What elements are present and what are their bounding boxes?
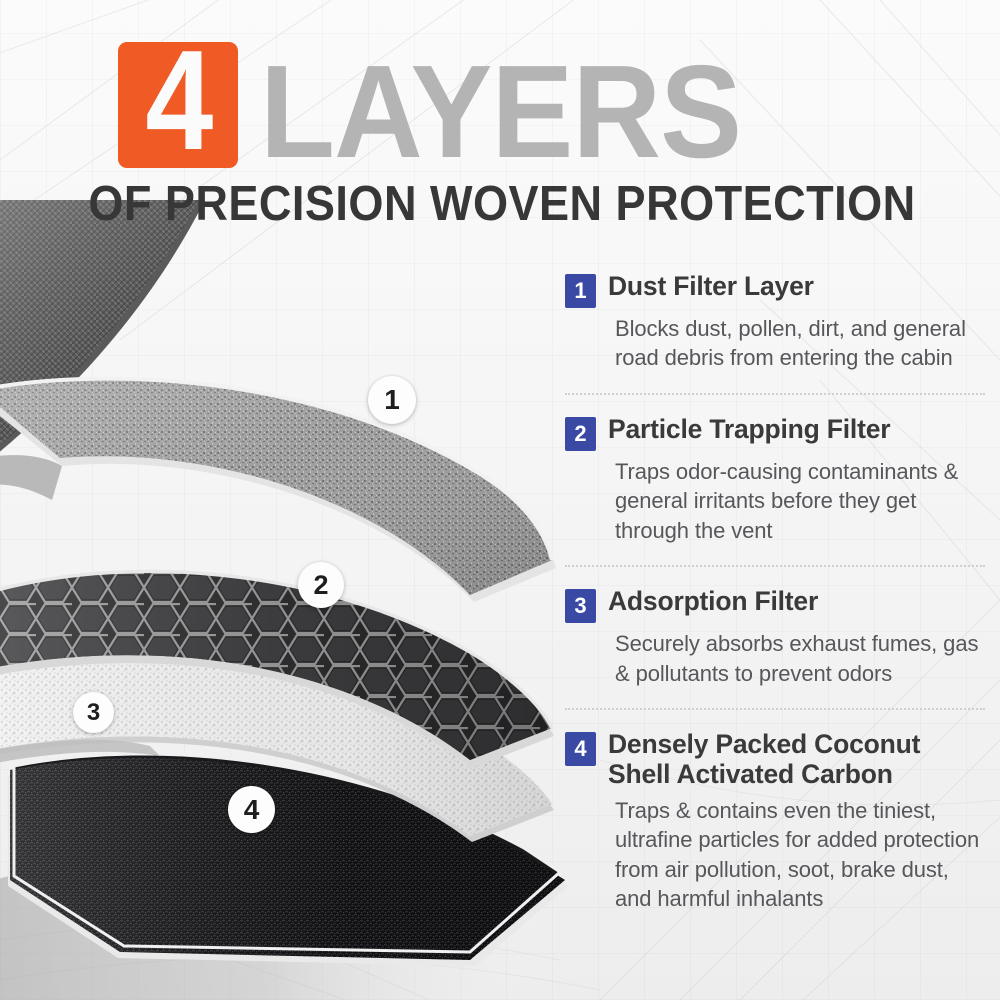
callout-1: 1 bbox=[368, 376, 416, 424]
layer-entry-1-description: Blocks dust, pollen, dirt, and general r… bbox=[615, 314, 985, 373]
page-title: LAYERS bbox=[260, 46, 741, 178]
layer-entry-4: 4 Densely Packed Coconut Shell Activated… bbox=[565, 730, 985, 913]
layer-entry-4-head: 4 Densely Packed Coconut Shell Activated… bbox=[565, 730, 985, 789]
divider-2 bbox=[565, 565, 985, 567]
layer-entry-3-head: 3 Adsorption Filter bbox=[565, 587, 985, 623]
layer-entry-1: 1 Dust Filter Layer Blocks dust, pollen,… bbox=[565, 272, 985, 373]
divider-1 bbox=[565, 393, 985, 395]
layer-description-list: 1 Dust Filter Layer Blocks dust, pollen,… bbox=[565, 272, 985, 914]
filter-layers-illustration: 1 2 3 4 bbox=[0, 200, 575, 1000]
callout-4: 4 bbox=[228, 786, 275, 833]
layer-entry-2-badge: 2 bbox=[565, 417, 596, 451]
layer-count-number: 4 bbox=[145, 30, 211, 172]
callout-3-label: 3 bbox=[87, 699, 100, 727]
layer-entry-2-head: 2 Particle Trapping Filter bbox=[565, 415, 985, 451]
callout-2: 2 bbox=[298, 562, 344, 608]
layer-entry-2-description: Traps odor-causing contaminants & genera… bbox=[615, 457, 985, 545]
layer-entry-3-description: Securely absorbs exhaust fumes, gas & po… bbox=[615, 629, 985, 688]
layer-entry-3-title: Adsorption Filter bbox=[608, 587, 818, 617]
page-subtitle: OF PRECISION WOVEN PROTECTION bbox=[88, 180, 916, 229]
layer-entry-1-number: 1 bbox=[574, 278, 586, 304]
callout-3: 3 bbox=[73, 692, 114, 733]
layer-entry-2-title: Particle Trapping Filter bbox=[608, 415, 890, 445]
layer-count-badge: 4 bbox=[118, 42, 238, 168]
layer-entry-3-badge: 3 bbox=[565, 589, 596, 623]
header: 4 LAYERS OF PRECISION WOVEN PROTECTION bbox=[0, 0, 1000, 235]
layer-1-nonwoven bbox=[0, 200, 575, 630]
layer-entry-4-number: 4 bbox=[574, 736, 586, 762]
layer-entry-1-title: Dust Filter Layer bbox=[608, 272, 814, 302]
layer-entry-2: 2 Particle Trapping Filter Traps odor-ca… bbox=[565, 415, 985, 545]
divider-3 bbox=[565, 708, 985, 710]
layer-entry-3: 3 Adsorption Filter Securely absorbs exh… bbox=[565, 587, 985, 688]
layer-entry-4-badge: 4 bbox=[565, 732, 596, 766]
layer-entry-4-title: Densely Packed Coconut Shell Activated C… bbox=[608, 730, 985, 789]
callout-4-label: 4 bbox=[244, 794, 260, 826]
layer-entry-2-number: 2 bbox=[574, 421, 586, 447]
layer-entry-1-head: 1 Dust Filter Layer bbox=[565, 272, 985, 308]
callout-1-label: 1 bbox=[384, 384, 400, 416]
layer-entry-1-badge: 1 bbox=[565, 274, 596, 308]
layer-entry-3-number: 3 bbox=[574, 593, 586, 619]
title-row: 4 LAYERS bbox=[118, 42, 777, 178]
callout-2-label: 2 bbox=[313, 570, 328, 601]
layer-entry-4-description: Traps & contains even the tiniest, ultra… bbox=[615, 796, 985, 914]
